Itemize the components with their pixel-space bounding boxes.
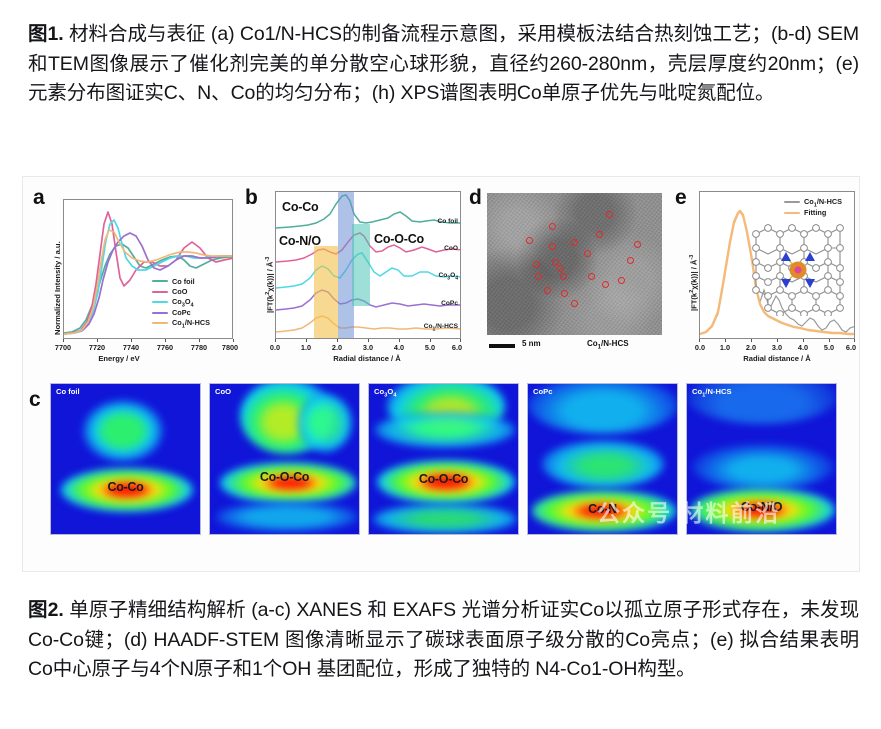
panel-b-xtick-2: 2.0: [332, 343, 342, 352]
atom-marker: [561, 290, 568, 297]
panel-e-tickmark-5: [829, 339, 830, 342]
panel-e-xtick-1: 1.0: [720, 343, 730, 352]
panel-b-exafs: b |FT(k2χ(k))| / Å-3: [241, 183, 463, 365]
panel-e-tickmark-6: [854, 339, 855, 342]
legend-item-copc: CoPc: [152, 308, 210, 319]
panel-a-tickmark-0: [63, 339, 64, 342]
legend-label-copc: CoPc: [172, 308, 191, 317]
panel-e-tickmark-4: [803, 339, 804, 342]
wavelet-bond-co-foil: Co-Co: [108, 480, 144, 494]
panel-a-tickmark-5: [233, 339, 234, 342]
panel-d-letter: d: [469, 187, 482, 208]
panel-e-exafs-fitting: e |FT(k2χ(k))| / Å-3 Co1/N-HCS: [673, 183, 859, 365]
panel-b-tickmark-0: [275, 339, 276, 342]
panel-e-tickmark-1: [725, 339, 726, 342]
curve-tag-co1-n-hcs: Co1/N-HCS: [424, 323, 458, 332]
curve-tag-copc: CoPc: [441, 300, 458, 307]
legend-item-co1-n-hcs: Co1/N-HCS: [152, 318, 210, 329]
wavelet-blob: [542, 440, 664, 488]
panel-e-xtick-0: 0.0: [695, 343, 705, 352]
panel-a-xlabel: Energy / eV: [98, 354, 139, 363]
atom-marker: [526, 237, 533, 244]
legend-swatch-co1-n-hcs: [152, 322, 168, 324]
panel-b-tickmark-2: [337, 339, 338, 342]
panel-b-xtick-3: 3.0: [363, 343, 373, 352]
panel-b-xtick-1: 1.0: [301, 343, 311, 352]
panel-a-tickmark-4: [199, 339, 200, 342]
annotation-co-co: Co-Co: [282, 200, 319, 214]
atom-marker: [560, 273, 567, 280]
curve-tag-co-foil: Co foil: [437, 218, 458, 225]
wavelet-bond-copc: Co-N: [588, 502, 617, 516]
atom-marker: [571, 300, 578, 307]
atom-marker: [571, 239, 578, 246]
wavelet-map-co-foil: Co foil Co-Co: [50, 383, 201, 535]
atom-marker: [544, 287, 551, 294]
legend-label-fitting: Fitting: [804, 208, 826, 217]
legend-label-co1-n-hcs: Co1/N-HCS: [172, 318, 210, 329]
panel-b-tickmark-1: [306, 339, 307, 342]
atom-marker: [584, 250, 591, 257]
panel-c-wavelet-maps: c Co foil Co-Co CoO Co-O-Co: [23, 373, 861, 549]
wavelet-label-copc: CoPc: [533, 387, 552, 396]
panel-e-xlabel: Radial distance / Å: [743, 354, 811, 363]
stem-micrograph: [487, 193, 662, 335]
panel-b-letter: b: [245, 187, 258, 208]
legend-label-co3o4: Co3O4: [172, 297, 194, 308]
panel-b-tickmark-5: [430, 339, 431, 342]
annotation-co-o-co: Co-O-Co: [374, 232, 424, 246]
legend-item-fitting: Fitting: [784, 208, 842, 219]
figure-2-caption: 图2. 单原子精细结构解析 (a-c) XANES 和 EXAFS 光谱分析证实…: [28, 596, 859, 685]
panel-a-plot-area: Co foil CoO Co3O4 CoPc: [63, 199, 233, 339]
wavelet-map-coo: CoO Co-O-Co: [209, 383, 360, 535]
legend-swatch-co-foil: [152, 280, 168, 282]
panel-d-haadf-stem: d: [467, 183, 672, 365]
panel-a-tickmark-2: [131, 339, 132, 342]
panel-b-ylabel: |FT(k2χ(k))| / Å-3: [265, 257, 275, 313]
panel-b-plot-area: Co-Co Co-N/O Co-O-Co Co foil CoO Co3O4 C…: [275, 191, 461, 339]
figure-page: 图1. 材料合成与表征 (a) Co1/N-HCS的制备流程示意图，采用模板法结…: [0, 0, 881, 729]
panel-e-ylabel: |FT(k2χ(k))| / Å-3: [689, 255, 699, 311]
legend-swatch-fitting: [784, 212, 800, 214]
wavelet-blob: [375, 412, 515, 448]
panel-e-tickmark-0: [699, 339, 700, 342]
panel-a-xtick-0: 7700: [55, 343, 71, 352]
annotation-co-n-o: Co-N/O: [279, 234, 321, 248]
figure-panel-container: a Normalized Intensity / a.u.: [22, 176, 860, 572]
oh-group: [794, 266, 801, 273]
wavelet-blob: [373, 504, 517, 534]
atom-marker: [596, 231, 603, 238]
atom-marker: [634, 241, 641, 248]
wavelet-map-copc: CoPc Co-N: [527, 383, 678, 535]
wavelet-blob: [83, 400, 163, 462]
panel-a-xtick-2: 7740: [123, 343, 139, 352]
figure-2-text: 单原子精细结构解析 (a-c) XANES 和 EXAFS 光谱分析证实Co以孤…: [28, 599, 859, 680]
wavelet-bond-co3o4: Co-O-Co: [419, 472, 468, 486]
atom-marker: [549, 243, 556, 250]
atom-marker: [602, 281, 609, 288]
panel-e-xtick-5: 5.0: [824, 343, 834, 352]
atom-marker: [618, 277, 625, 284]
legend-label-sample: Co1/N-HCS: [804, 197, 842, 208]
scale-bar: [489, 344, 515, 348]
panel-a-letter: a: [33, 187, 45, 208]
figure-1-caption: 图1. 材料合成与表征 (a) Co1/N-HCS的制备流程示意图，采用模板法结…: [28, 20, 859, 109]
panel-d-sample-label: Co1/N-HCS: [587, 339, 629, 351]
panel-e-xtick-3: 3.0: [772, 343, 782, 352]
scale-bar-label: 5 nm: [522, 339, 541, 348]
wavelet-blob: [693, 444, 833, 490]
wavelet-bond-co1-n-hcs: Co-N/O: [741, 500, 782, 514]
legend-item-co-foil: Co foil: [152, 276, 210, 287]
curve-tag-co3o4: Co3O4: [439, 272, 459, 281]
figure-1-label: 图1.: [28, 23, 64, 45]
wavelet-label-co-foil: Co foil: [56, 387, 80, 396]
panel-e-plot-area: Co1/N-HCS Fitting: [699, 191, 855, 339]
panel-e-letter: e: [675, 187, 687, 208]
wavelet-label-coo: CoO: [215, 387, 231, 396]
atom-marker: [588, 273, 595, 280]
panel-e-xtick-2: 2.0: [746, 343, 756, 352]
atom-marker: [606, 211, 613, 218]
atom-marker: [535, 273, 542, 280]
panel-e-tickmark-3: [777, 339, 778, 342]
legend-label-coo: CoO: [172, 287, 187, 296]
atom-marker: [557, 265, 564, 272]
figure-1-text: 材料合成与表征 (a) Co1/N-HCS的制备流程示意图，采用模板法结合热刻蚀…: [28, 23, 859, 104]
panel-b-xtick-0: 0.0: [270, 343, 280, 352]
figure-2-label: 图2.: [28, 599, 64, 621]
panel-a-tickmark-1: [97, 339, 98, 342]
n4-co1-lattice-inset: [746, 220, 850, 316]
wavelet-label-co1-n-hcs: Co1/N-HCS: [692, 387, 732, 399]
panel-a-legend: Co foil CoO Co3O4 CoPc: [152, 276, 210, 329]
legend-swatch-coo: [152, 291, 168, 293]
panel-b-xtick-6: 6.0: [452, 343, 462, 352]
highlight-band-co-o-co: [352, 224, 370, 306]
legend-swatch-copc: [152, 312, 168, 314]
panel-c-letter: c: [29, 389, 41, 410]
panel-a-tickmark-3: [165, 339, 166, 342]
panel-b-tickmark-4: [399, 339, 400, 342]
panel-e-legend: Co1/N-HCS Fitting: [784, 197, 842, 218]
legend-item-coo: CoO: [152, 287, 210, 298]
panel-e-tickmark-2: [751, 339, 752, 342]
panel-e-xtick-4: 4.0: [798, 343, 808, 352]
legend-swatch-sample: [784, 201, 800, 203]
panel-a-xtick-5: 7800: [222, 343, 238, 352]
wavelet-bond-coo: Co-O-Co: [260, 470, 309, 484]
wavelet-map-co3o4: Co3O4 Co-O-Co: [368, 383, 519, 535]
curve-tag-coo: CoO: [444, 245, 458, 252]
panel-b-tickmark-6: [460, 339, 461, 342]
highlight-band-co-n-o: [314, 246, 338, 339]
wavelet-map-co1-n-hcs: Co1/N-HCS Co-N/O: [686, 383, 837, 535]
panel-a-xtick-3: 7760: [157, 343, 173, 352]
panel-b-xtick-5: 5.0: [425, 343, 435, 352]
legend-item-co3o4: Co3O4: [152, 297, 210, 308]
panel-b-tickmark-3: [368, 339, 369, 342]
wavelet-blob: [298, 394, 352, 452]
panel-b-xlabel: Radial distance / Å: [333, 354, 401, 363]
wavelet-label-co3o4: Co3O4: [374, 387, 397, 399]
wavelet-blob: [216, 502, 358, 532]
legend-item-sample: Co1/N-HCS: [784, 197, 842, 208]
panel-b-xtick-4: 4.0: [394, 343, 404, 352]
legend-label-co-foil: Co foil: [172, 277, 195, 286]
atom-marker: [533, 261, 540, 268]
legend-swatch-co3o4: [152, 301, 168, 303]
atom-marker: [627, 257, 634, 264]
panel-a-xtick-1: 7720: [89, 343, 105, 352]
panel-e-xtick-6: 6.0: [846, 343, 856, 352]
atom-marker: [549, 223, 556, 230]
panel-a-ylabel: Normalized Intensity / a.u.: [53, 241, 62, 335]
panel-a-xtick-4: 7780: [191, 343, 207, 352]
panel-a-xanes: a Normalized Intensity / a.u.: [29, 183, 237, 365]
